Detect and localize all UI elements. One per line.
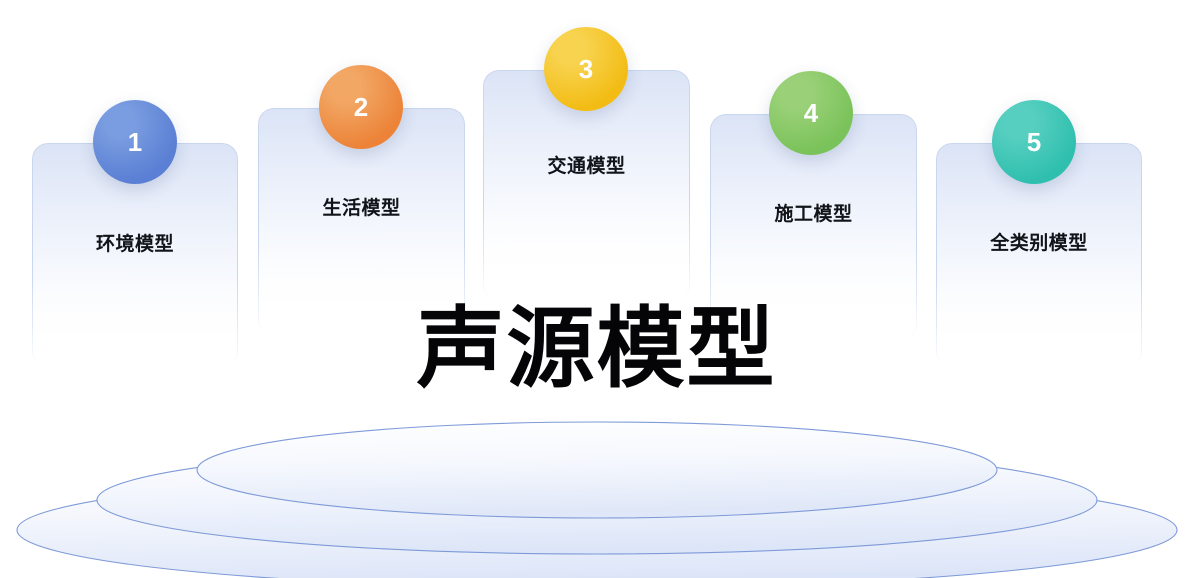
podium-tier-bottom (17, 472, 1177, 578)
step-number-badge-2[interactable]: 2 (319, 65, 403, 149)
step-card-label-2: 生活模型 (259, 193, 464, 220)
step-number-badge-3[interactable]: 3 (544, 27, 628, 111)
step-number-badge-5[interactable]: 5 (992, 100, 1076, 184)
podium-tier-top (197, 422, 997, 518)
step-card-label-1: 环境模型 (33, 229, 237, 256)
step-card-label-5: 全类别模型 (937, 228, 1141, 255)
slide-canvas: 环境模型 生活模型 交通模型 施工模型 全类别模型 1 2 3 4 5 声源模型 (0, 0, 1193, 578)
step-card-label-3: 交通模型 (484, 151, 689, 178)
podium-tier-middle (97, 446, 1097, 554)
page-title: 声源模型 (0, 305, 1193, 393)
step-number-badge-4[interactable]: 4 (769, 71, 853, 155)
step-card-label-4: 施工模型 (711, 199, 916, 226)
step-number-badge-1[interactable]: 1 (93, 100, 177, 184)
